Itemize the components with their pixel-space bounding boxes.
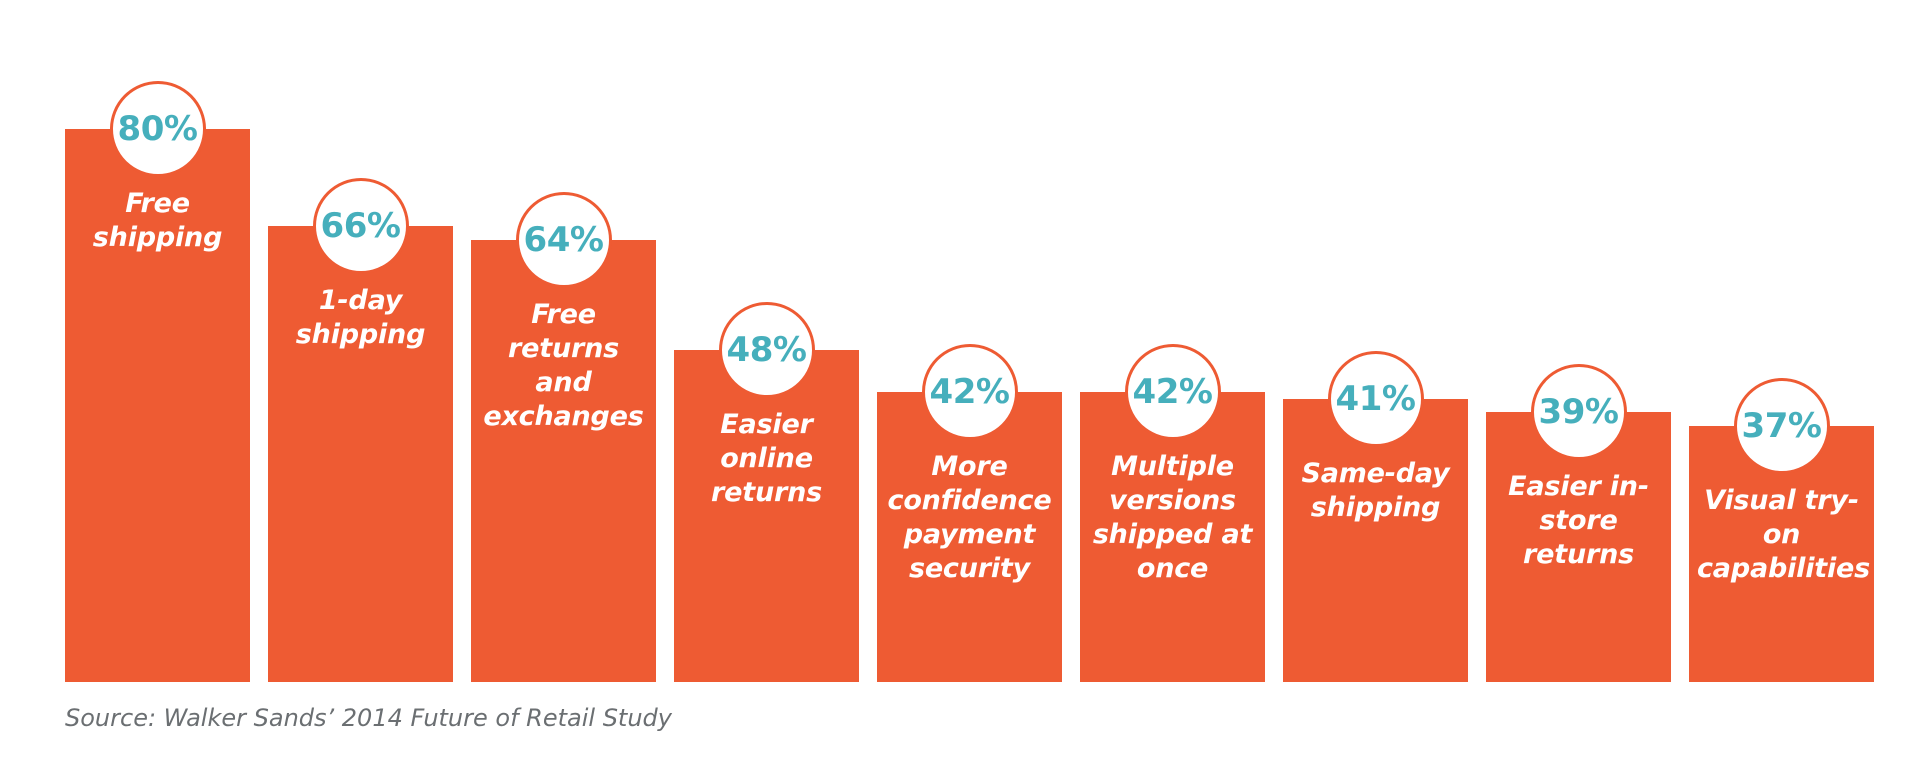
value-badge-text: 41% (1336, 382, 1416, 416)
bar-category-line: Easier online (682, 408, 851, 476)
bar-category-label: Freeshipping (65, 187, 250, 255)
bar-category-line: payment (885, 518, 1054, 552)
value-badge: 80% (110, 81, 206, 177)
bar-category-line: Easier in- (1494, 470, 1663, 504)
value-badge: 64% (516, 192, 612, 288)
bar-category-line: security (885, 552, 1054, 586)
bar-group[interactable]: Easier onlinereturns48% (674, 0, 859, 682)
bar-category-line: shipped at (1088, 518, 1257, 552)
value-badge-text: 48% (727, 333, 807, 367)
bar-category-label: Multipleversionsshipped atonce (1080, 450, 1265, 586)
bar-category-line: Multiple (1088, 450, 1257, 484)
value-badge-text: 66% (321, 209, 401, 243)
bar-category-line: exchanges (479, 400, 648, 434)
plot-area: Freeshipping80%1-dayshipping66%Freeretur… (65, 0, 1859, 682)
bar-category-label: 1-dayshipping (268, 284, 453, 352)
bar-group[interactable]: Visual try-oncapabilities37% (1689, 0, 1874, 682)
bar-category-line: store returns (1494, 504, 1663, 572)
value-badge-text: 42% (1133, 375, 1213, 409)
bar-category-line: More (885, 450, 1054, 484)
value-badge: 42% (1125, 344, 1221, 440)
bar-category-line: Visual try-on (1697, 484, 1866, 552)
bar-category-line: Same-day (1291, 457, 1460, 491)
bar-group[interactable]: Freereturns andexchanges64% (471, 0, 656, 682)
value-badge-text: 64% (524, 223, 604, 257)
value-badge: 66% (313, 178, 409, 274)
value-badge: 42% (922, 344, 1018, 440)
bar-category-line: shipping (73, 221, 242, 255)
bar-group[interactable]: Same-dayshipping41% (1283, 0, 1468, 682)
value-badge: 48% (719, 302, 815, 398)
bar-category-line: returns (682, 476, 851, 510)
bar-chart-figure: Freeshipping80%1-dayshipping66%Freeretur… (0, 0, 1924, 768)
bar-group[interactable]: Moreconfidencepaymentsecurity42% (877, 0, 1062, 682)
bar-category-line: confidence (885, 484, 1054, 518)
bar-category-label: Easier onlinereturns (674, 408, 859, 510)
bar-group[interactable]: Multipleversionsshipped atonce42% (1080, 0, 1265, 682)
bar-category-label: Same-dayshipping (1283, 457, 1468, 525)
bar-group[interactable]: Easier in-store returns39% (1486, 0, 1671, 682)
value-badge: 39% (1531, 364, 1627, 460)
bar[interactable] (674, 350, 859, 682)
bar-category-line: 1-day (276, 284, 445, 318)
value-badge-text: 37% (1742, 409, 1822, 443)
bar-category-line: returns and (479, 332, 648, 400)
bar-category-label: Easier in-store returns (1486, 470, 1671, 572)
value-badge-text: 39% (1539, 395, 1619, 429)
value-badge-text: 80% (118, 112, 198, 146)
bar-category-line: capabilities (1697, 552, 1866, 586)
bar-category-label: Freereturns andexchanges (471, 298, 656, 434)
bar-category-label: Moreconfidencepaymentsecurity (877, 450, 1062, 586)
value-badge: 37% (1734, 378, 1830, 474)
bar-group[interactable]: Freeshipping80% (65, 0, 250, 682)
bar-category-label: Visual try-oncapabilities (1689, 484, 1874, 586)
value-badge-text: 42% (930, 375, 1010, 409)
value-badge: 41% (1328, 351, 1424, 447)
bar-category-line: shipping (1291, 491, 1460, 525)
bar-category-line: once (1088, 552, 1257, 586)
bar-category-line: versions (1088, 484, 1257, 518)
bar-category-line: Free (73, 187, 242, 221)
bar-group[interactable]: 1-dayshipping66% (268, 0, 453, 682)
source-caption: Source: Walker Sands’ 2014 Future of Ret… (65, 704, 672, 732)
bar-category-line: shipping (276, 318, 445, 352)
bar-category-line: Free (479, 298, 648, 332)
